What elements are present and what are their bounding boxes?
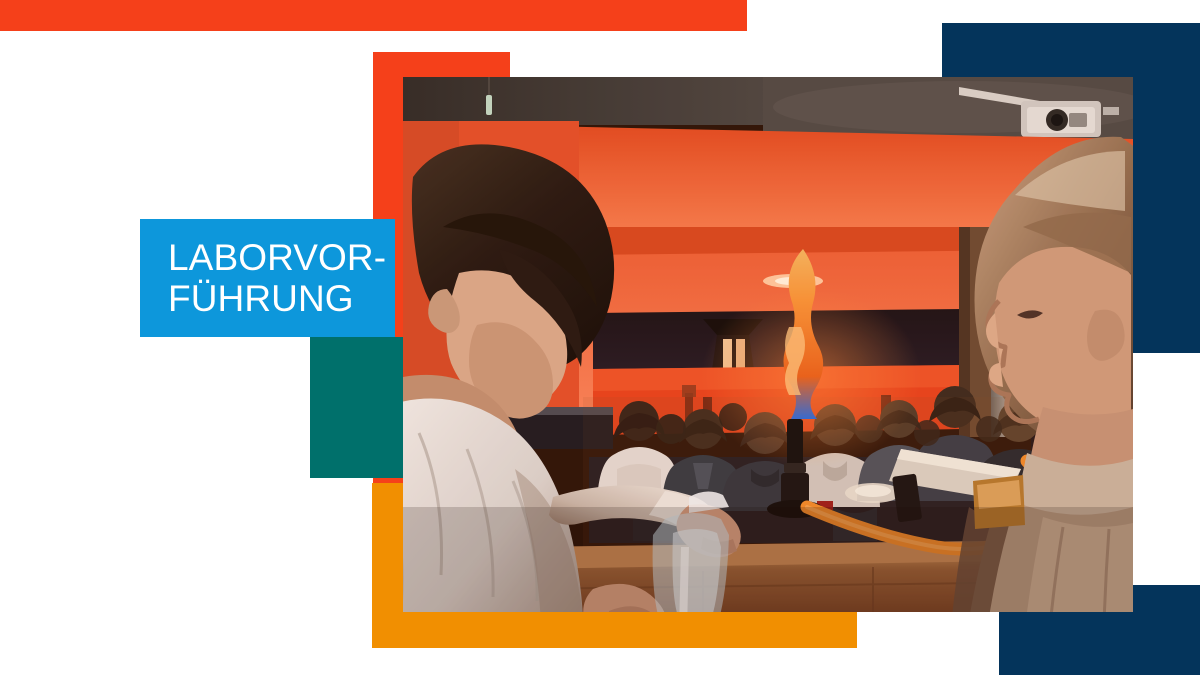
photo-illustration xyxy=(403,77,1133,612)
title-card: LABORVOR- FÜHRUNG xyxy=(140,219,395,337)
slide-canvas: LABORVOR- FÜHRUNG xyxy=(0,0,1200,675)
page-title: LABORVOR- FÜHRUNG xyxy=(140,237,386,320)
lab-demonstration-photo xyxy=(403,77,1133,612)
top-red-bar xyxy=(0,0,747,31)
